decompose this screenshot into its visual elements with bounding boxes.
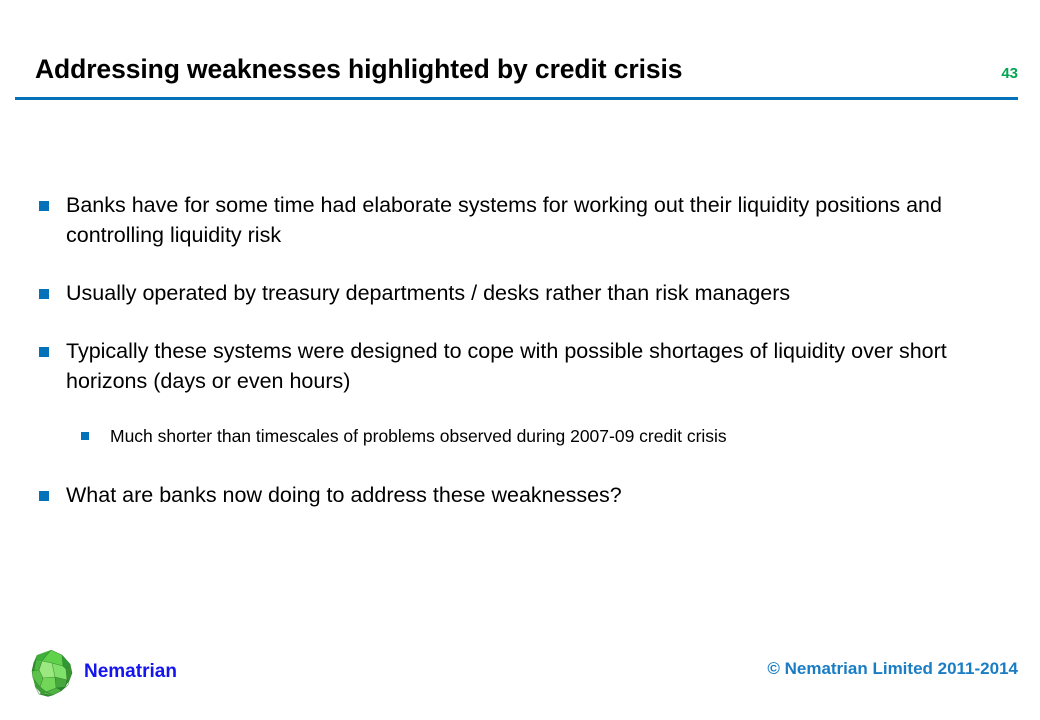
slide: Addressing weaknesses highlighted by cre… xyxy=(0,0,1040,720)
bullet-text: What are banks now doing to address thes… xyxy=(66,480,1026,510)
nematrian-polyhedron-icon xyxy=(26,647,76,697)
copyright-text: © Nematrian Limited 2011-2014 xyxy=(767,658,1018,680)
bullet-text: Typically these systems were designed to… xyxy=(66,336,1026,396)
bullet-item: Usually operated by treasury departments… xyxy=(0,278,1026,308)
sub-bullet-text: Much shorter than timescales of problems… xyxy=(110,424,1040,448)
bullet-square-icon xyxy=(39,289,49,299)
brand-name: Nematrian xyxy=(84,661,177,683)
title-divider xyxy=(15,97,1018,100)
bullet-square-icon xyxy=(39,201,49,211)
bullet-text: Banks have for some time had elaborate s… xyxy=(66,190,1026,250)
brand-logo: Nematrian xyxy=(26,644,177,700)
bullet-item: What are banks now doing to address thes… xyxy=(0,480,1026,510)
bullet-item: Banks have for some time had elaborate s… xyxy=(0,190,1026,250)
bullet-square-icon xyxy=(81,432,89,440)
slide-header: Addressing weaknesses highlighted by cre… xyxy=(0,52,1040,98)
page-number: 43 xyxy=(1001,65,1018,83)
bullet-item: Typically these systems were designed to… xyxy=(0,336,1026,396)
bullet-square-icon xyxy=(39,347,49,357)
sub-bullet-item: Much shorter than timescales of problems… xyxy=(0,424,1040,448)
bullet-square-icon xyxy=(39,491,49,501)
slide-footer: Nematrian © Nematrian Limited 2011-2014 xyxy=(0,624,1040,720)
slide-body: Banks have for some time had elaborate s… xyxy=(0,190,1040,538)
page-title: Addressing weaknesses highlighted by cre… xyxy=(35,52,682,86)
bullet-text: Usually operated by treasury departments… xyxy=(66,278,1026,308)
